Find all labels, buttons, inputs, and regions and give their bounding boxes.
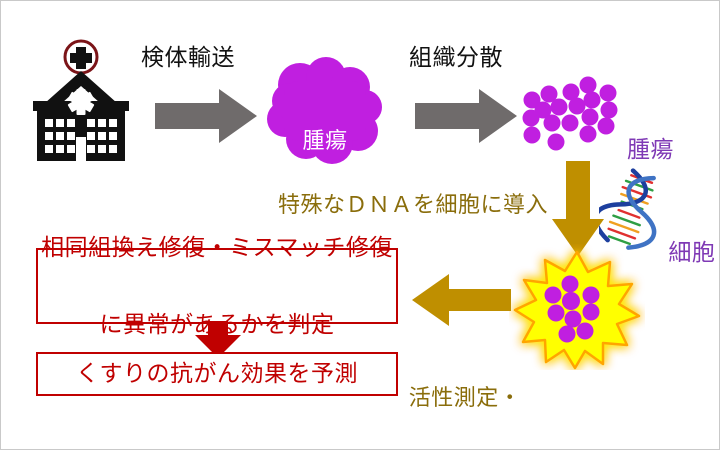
arrow-right-gray-2 — [413, 87, 521, 145]
hospital-icon-svg — [25, 37, 137, 161]
tumor-cells-label-line2: 細胞 — [668, 239, 715, 265]
activity-star-node — [509, 244, 645, 370]
tumor-cells-label-line1: 腫瘍 — [627, 137, 720, 163]
label-assay-score: 活性測定・ スコア化 — [407, 337, 523, 450]
diagram-canvas: 検体輸送 腫瘍 組織 組織分散 — [0, 0, 720, 450]
label-transport: 検体輸送 — [141, 45, 235, 71]
dna-helix-svg — [599, 168, 661, 254]
arrow-right-gray-1 — [153, 87, 261, 145]
hospital-icon — [25, 37, 137, 161]
arrow-left-gold — [409, 271, 513, 329]
tumor-tissue-label-line1: 腫瘍 — [266, 129, 384, 154]
tumor-cells-cluster — [513, 73, 618, 155]
result-box-1-line1: 相同組換え修復・ミスマッチ修復 — [41, 235, 393, 261]
dna-helix-icon — [599, 168, 661, 254]
result-box-prediction-text: くすりの抗がん効果を予測 — [76, 361, 358, 387]
tumor-tissue-node: 腫瘍 組織 — [266, 55, 384, 167]
activity-star-svg — [509, 244, 645, 370]
result-box-prediction: くすりの抗がん効果を予測 — [36, 352, 398, 396]
label-dissociation: 組織分散 — [409, 45, 503, 71]
arrow-transport — [153, 87, 261, 145]
tumor-cells-dots — [513, 73, 618, 155]
arrow-dissociation — [413, 87, 521, 145]
result-box-determination: 相同組換え修復・ミスマッチ修復 に異常があるかを判定 — [36, 248, 398, 324]
arrow-assay-result — [409, 271, 513, 329]
label-assay-score-line1: 活性測定・ — [407, 386, 523, 411]
